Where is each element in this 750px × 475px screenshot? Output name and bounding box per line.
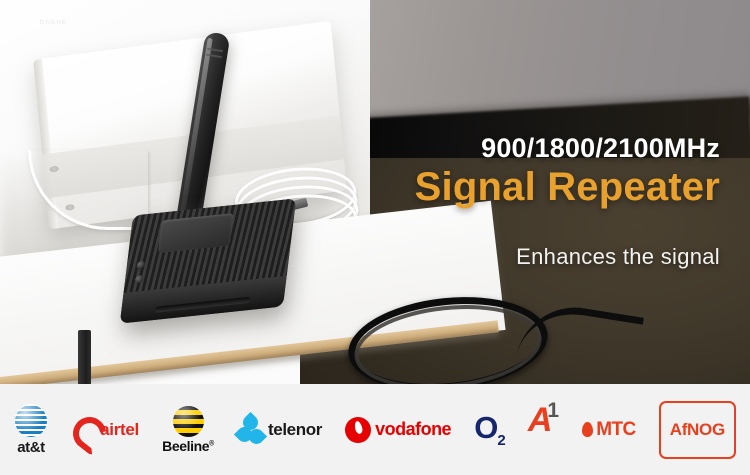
airtel-swirl-icon [71,416,97,444]
headline: Signal Repeater [300,164,720,211]
mtc-egg-icon [582,422,593,437]
frequency-line: 900/1800/2100MHz [300,134,720,162]
signal-repeater-unit [120,198,296,323]
mtc-label: MTC [596,419,635,441]
product-banner: DAGHE 900/1800/2100MHz Signal Repeater E… [0,0,750,475]
afnog-label: AfNOG [670,420,725,440]
repeater-brand-text: DAGHE [39,20,67,26]
logo-beeline: Beeline® [162,401,214,459]
beeline-striped-globe-icon [173,406,204,437]
att-label: at&t [17,439,45,456]
telenor-label: telenor [268,420,322,440]
logo-att: at&t [14,401,48,459]
vodafone-quote-icon [345,417,371,443]
logo-o2: O2 [474,401,504,459]
telenor-propeller-icon [237,415,264,445]
logo-mtc: MTC [582,401,635,459]
subline: Enhances the signal [300,244,720,270]
logo-vodafone: vodafone [345,401,451,459]
desk-leg [78,330,91,384]
beeline-label: Beeline® [162,438,214,454]
o2-label: O2 [474,410,504,449]
logo-a1: A 1 [528,401,559,459]
logo-airtel: airtel [71,401,139,459]
logo-telenor: telenor [237,401,322,459]
att-globe-icon [14,404,48,438]
vodafone-label: vodafone [375,419,451,440]
marketing-copy: 900/1800/2100MHz Signal Repeater Enhance… [300,134,720,270]
a1-number: 1 [547,399,559,423]
logo-afnog: AfNOG [659,401,736,459]
carrier-logo-strip: at&t airtel Beeline® telenor vodafone O2 [0,384,750,475]
product-photo-scene: DAGHE 900/1800/2100MHz Signal Repeater E… [0,0,750,384]
